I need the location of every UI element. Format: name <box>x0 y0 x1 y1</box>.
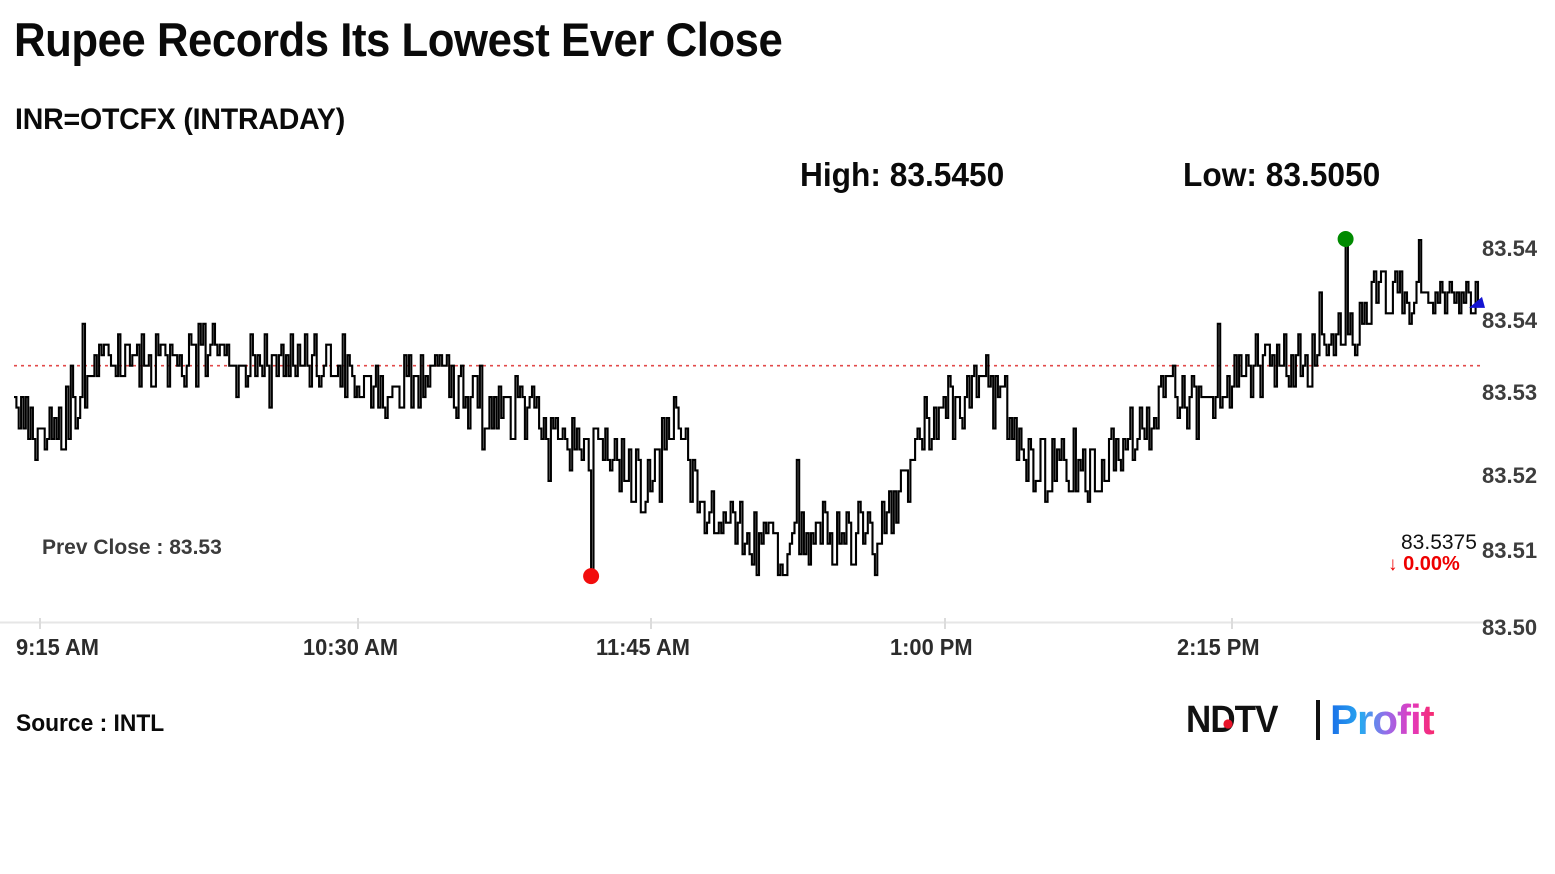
instrument-subtitle: INR=OTCFX (INTRADAY) <box>15 103 345 137</box>
y-axis-tick-1: 83.54 <box>1482 308 1537 334</box>
last-price-label: 83.5375 <box>1399 531 1479 555</box>
high-marker <box>1338 231 1354 247</box>
page-title: Rupee Records Its Lowest Ever Close <box>14 16 782 63</box>
y-axis-tick-4: 83.51 <box>1482 538 1537 564</box>
x-axis-tick-0: 9:15 AM <box>16 634 99 661</box>
x-axis-tick-4: 2:15 PM <box>1177 634 1260 661</box>
prev-close-label: Prev Close : 83.53 <box>38 536 228 560</box>
logo-ndtv-text: NDTV <box>1186 698 1279 741</box>
change-percent-value: 0.00% <box>1403 553 1460 575</box>
chart-page: Rupee Records Its Lowest Ever Close INR=… <box>0 0 1555 874</box>
logo-profit-text: Profit <box>1330 697 1435 743</box>
y-axis-tick-5: 83.50 <box>1482 615 1537 641</box>
x-axis-baseline <box>0 618 1490 632</box>
last-change-label: ↓ 0.00% <box>1386 553 1462 576</box>
y-axis-tick-2: 83.53 <box>1482 380 1537 406</box>
price-line <box>14 240 1478 575</box>
down-arrow-icon: ↓ <box>1388 554 1398 575</box>
x-axis: 9:15 AM10:30 AM11:45 AM1:00 PM2:15 PM <box>0 618 1490 678</box>
ndtv-profit-logo: NDTV Profit <box>1186 697 1466 743</box>
high-stat: High: 83.5450 <box>800 156 1004 194</box>
price-line-chart <box>0 220 1555 630</box>
x-axis-tick-2: 11:45 AM <box>596 634 690 661</box>
x-axis-tick-1: 10:30 AM <box>303 634 398 661</box>
low-stat: Low: 83.5050 <box>1183 156 1380 194</box>
chart-plot-area: Prev Close : 83.53 83.5375 ↓ 0.00% 83.54… <box>0 220 1555 630</box>
y-axis-tick-0: 83.54 <box>1482 236 1537 262</box>
low-marker <box>583 568 599 584</box>
x-axis-tick-3: 1:00 PM <box>890 634 973 661</box>
source-label: Source : INTL <box>16 710 164 738</box>
y-axis-tick-3: 83.52 <box>1482 463 1537 489</box>
logo-divider <box>1316 700 1320 740</box>
logo-red-dot-icon <box>1223 719 1232 728</box>
